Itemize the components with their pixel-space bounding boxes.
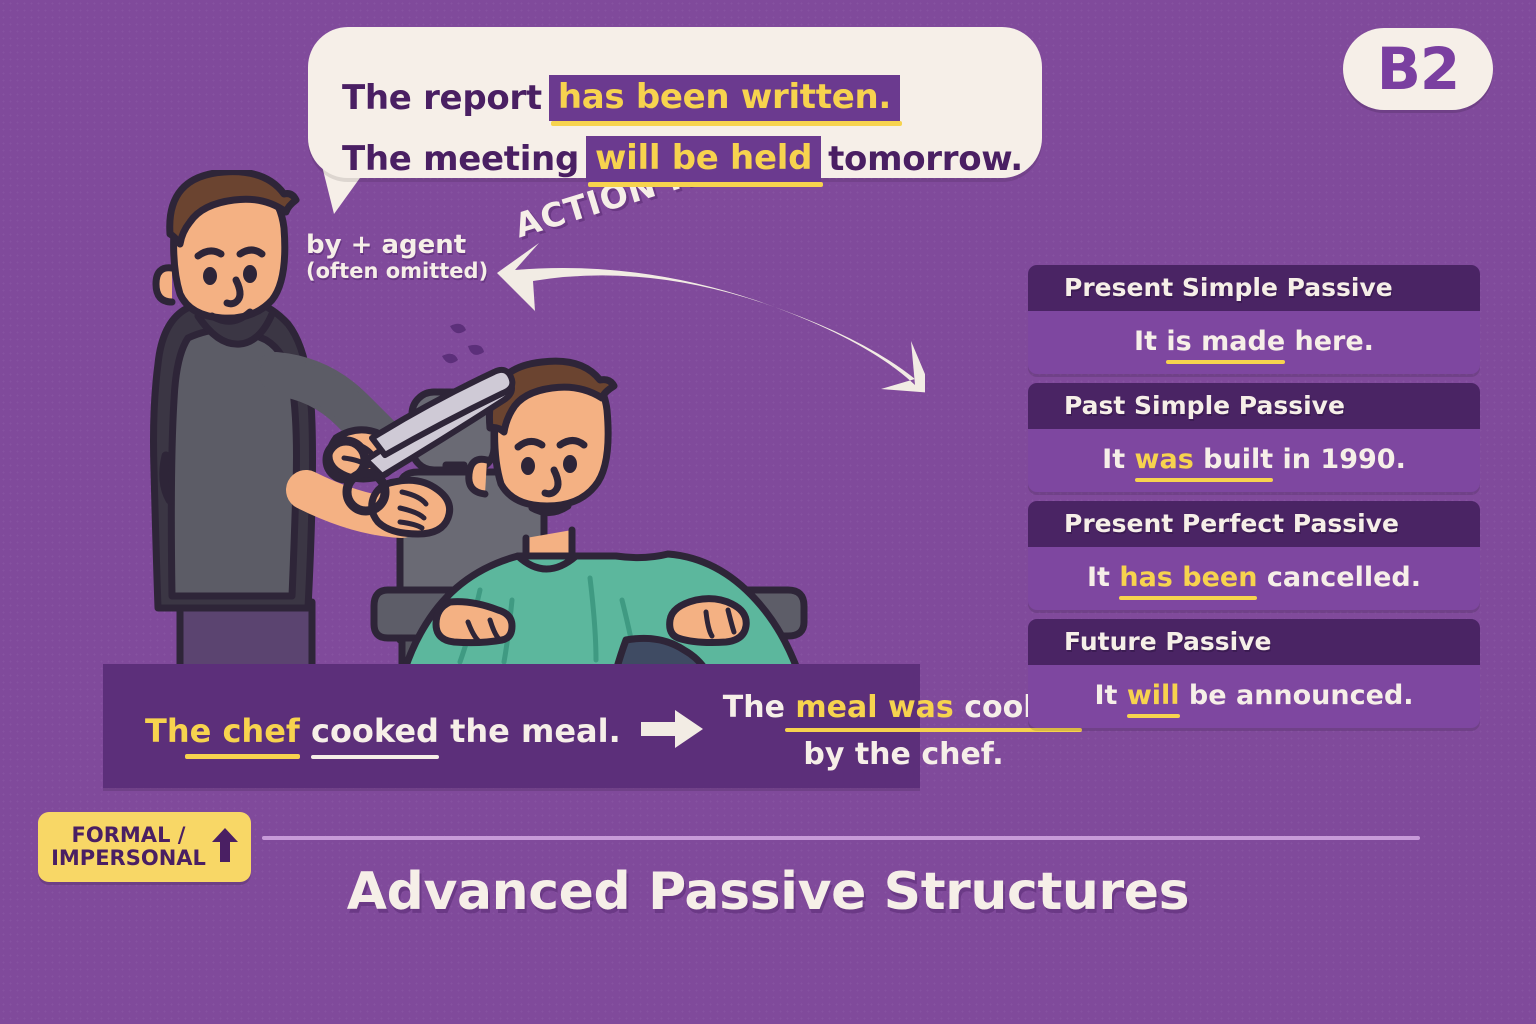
example-marked: has been: [1119, 562, 1257, 593]
card-title: Present Perfect Passive: [1064, 509, 1399, 538]
card-header: Future Passive: [1028, 619, 1480, 665]
arrow-right-icon: [641, 710, 703, 752]
card-example: It was built in 1990.: [1102, 444, 1406, 475]
transformation-banner: The chef cooked the meal. The meal was c…: [103, 664, 920, 788]
page-title: Advanced Passive Structures: [0, 862, 1536, 922]
active-verb: cooked: [311, 712, 439, 750]
card-example: It has been cancelled.: [1087, 562, 1421, 593]
speech-bubble-line-1: The report has been written.: [342, 75, 907, 121]
footer-divider: [262, 836, 1420, 840]
example-prefix: It: [1087, 562, 1119, 593]
card-past-simple-passive: Past Simple Passive It was built in 1990…: [1028, 383, 1480, 492]
active-subject: The chef: [145, 712, 300, 750]
card-title: Past Simple Passive: [1064, 391, 1345, 420]
example-suffix: here.: [1285, 326, 1374, 357]
example-suffix: in 1990.: [1273, 444, 1406, 475]
by-agent-line1: by + agent: [306, 232, 488, 259]
bubble-1-highlight: has been written.: [549, 75, 900, 121]
card-body: It has been cancelled.: [1028, 547, 1480, 610]
example-prefix: It: [1094, 680, 1126, 711]
level-badge: B2: [1343, 28, 1493, 110]
arrow-up-icon: [212, 828, 238, 866]
card-example: It will be announced.: [1094, 680, 1413, 711]
card-body: It was built in 1990.: [1028, 429, 1480, 492]
example-marked: will: [1127, 680, 1180, 711]
card-title: Present Simple Passive: [1064, 273, 1393, 302]
by-agent-line2: (often omitted): [306, 259, 488, 283]
card-body: It will be announced.: [1028, 665, 1480, 728]
card-present-perfect-passive: Present Perfect Passive It has been canc…: [1028, 501, 1480, 610]
passive-line-2: by the chef.: [723, 737, 1084, 772]
bubble-1-before: The report: [342, 78, 542, 118]
example-marked: was built: [1135, 444, 1274, 475]
example-prefix: It: [1134, 326, 1166, 357]
transformation-row: The chef cooked the meal. The meal was c…: [103, 690, 920, 773]
bubble-2-highlight: will be held: [586, 136, 821, 182]
speech-bubble-line-2: The meeting will be held tomorrow.: [342, 136, 1023, 182]
passive-forms-card-list: Present Simple Passive It is made here. …: [1028, 265, 1480, 737]
bubble-2-after: tomorrow.: [828, 139, 1023, 179]
active-sentence: The chef cooked the meal.: [145, 712, 621, 750]
card-header: Present Perfect Passive: [1028, 501, 1480, 547]
bubble-2-before: The meeting: [342, 139, 579, 179]
example-suffix: be announced.: [1180, 680, 1414, 711]
infographic-canvas: ACTION RECEIVED by + agent (often omitte…: [0, 0, 1536, 1024]
example-suffix: cancelled.: [1257, 562, 1421, 593]
example-marked: is made: [1166, 326, 1285, 357]
card-future-passive: Future Passive It will be announced.: [1028, 619, 1480, 728]
example-marked-white: built: [1194, 444, 1273, 475]
active-object: the meal.: [450, 712, 621, 750]
example-prefix: It: [1102, 444, 1134, 475]
card-body: It is made here.: [1028, 311, 1480, 374]
passive-article: The: [723, 690, 785, 725]
level-badge-label: B2: [1377, 35, 1460, 103]
card-title: Future Passive: [1064, 627, 1271, 656]
card-present-simple-passive: Present Simple Passive It is made here.: [1028, 265, 1480, 374]
card-example: It is made here.: [1134, 326, 1374, 357]
formal-badge-line1: FORMAL /: [51, 824, 206, 847]
card-header: Present Simple Passive: [1028, 265, 1480, 311]
example-marked-yellow: was: [1135, 444, 1194, 475]
speech-bubble: The report has been written. The meeting…: [308, 27, 1042, 178]
passive-subject: meal was: [795, 690, 953, 725]
by-agent-note: by + agent (often omitted): [306, 232, 488, 283]
card-header: Past Simple Passive: [1028, 383, 1480, 429]
